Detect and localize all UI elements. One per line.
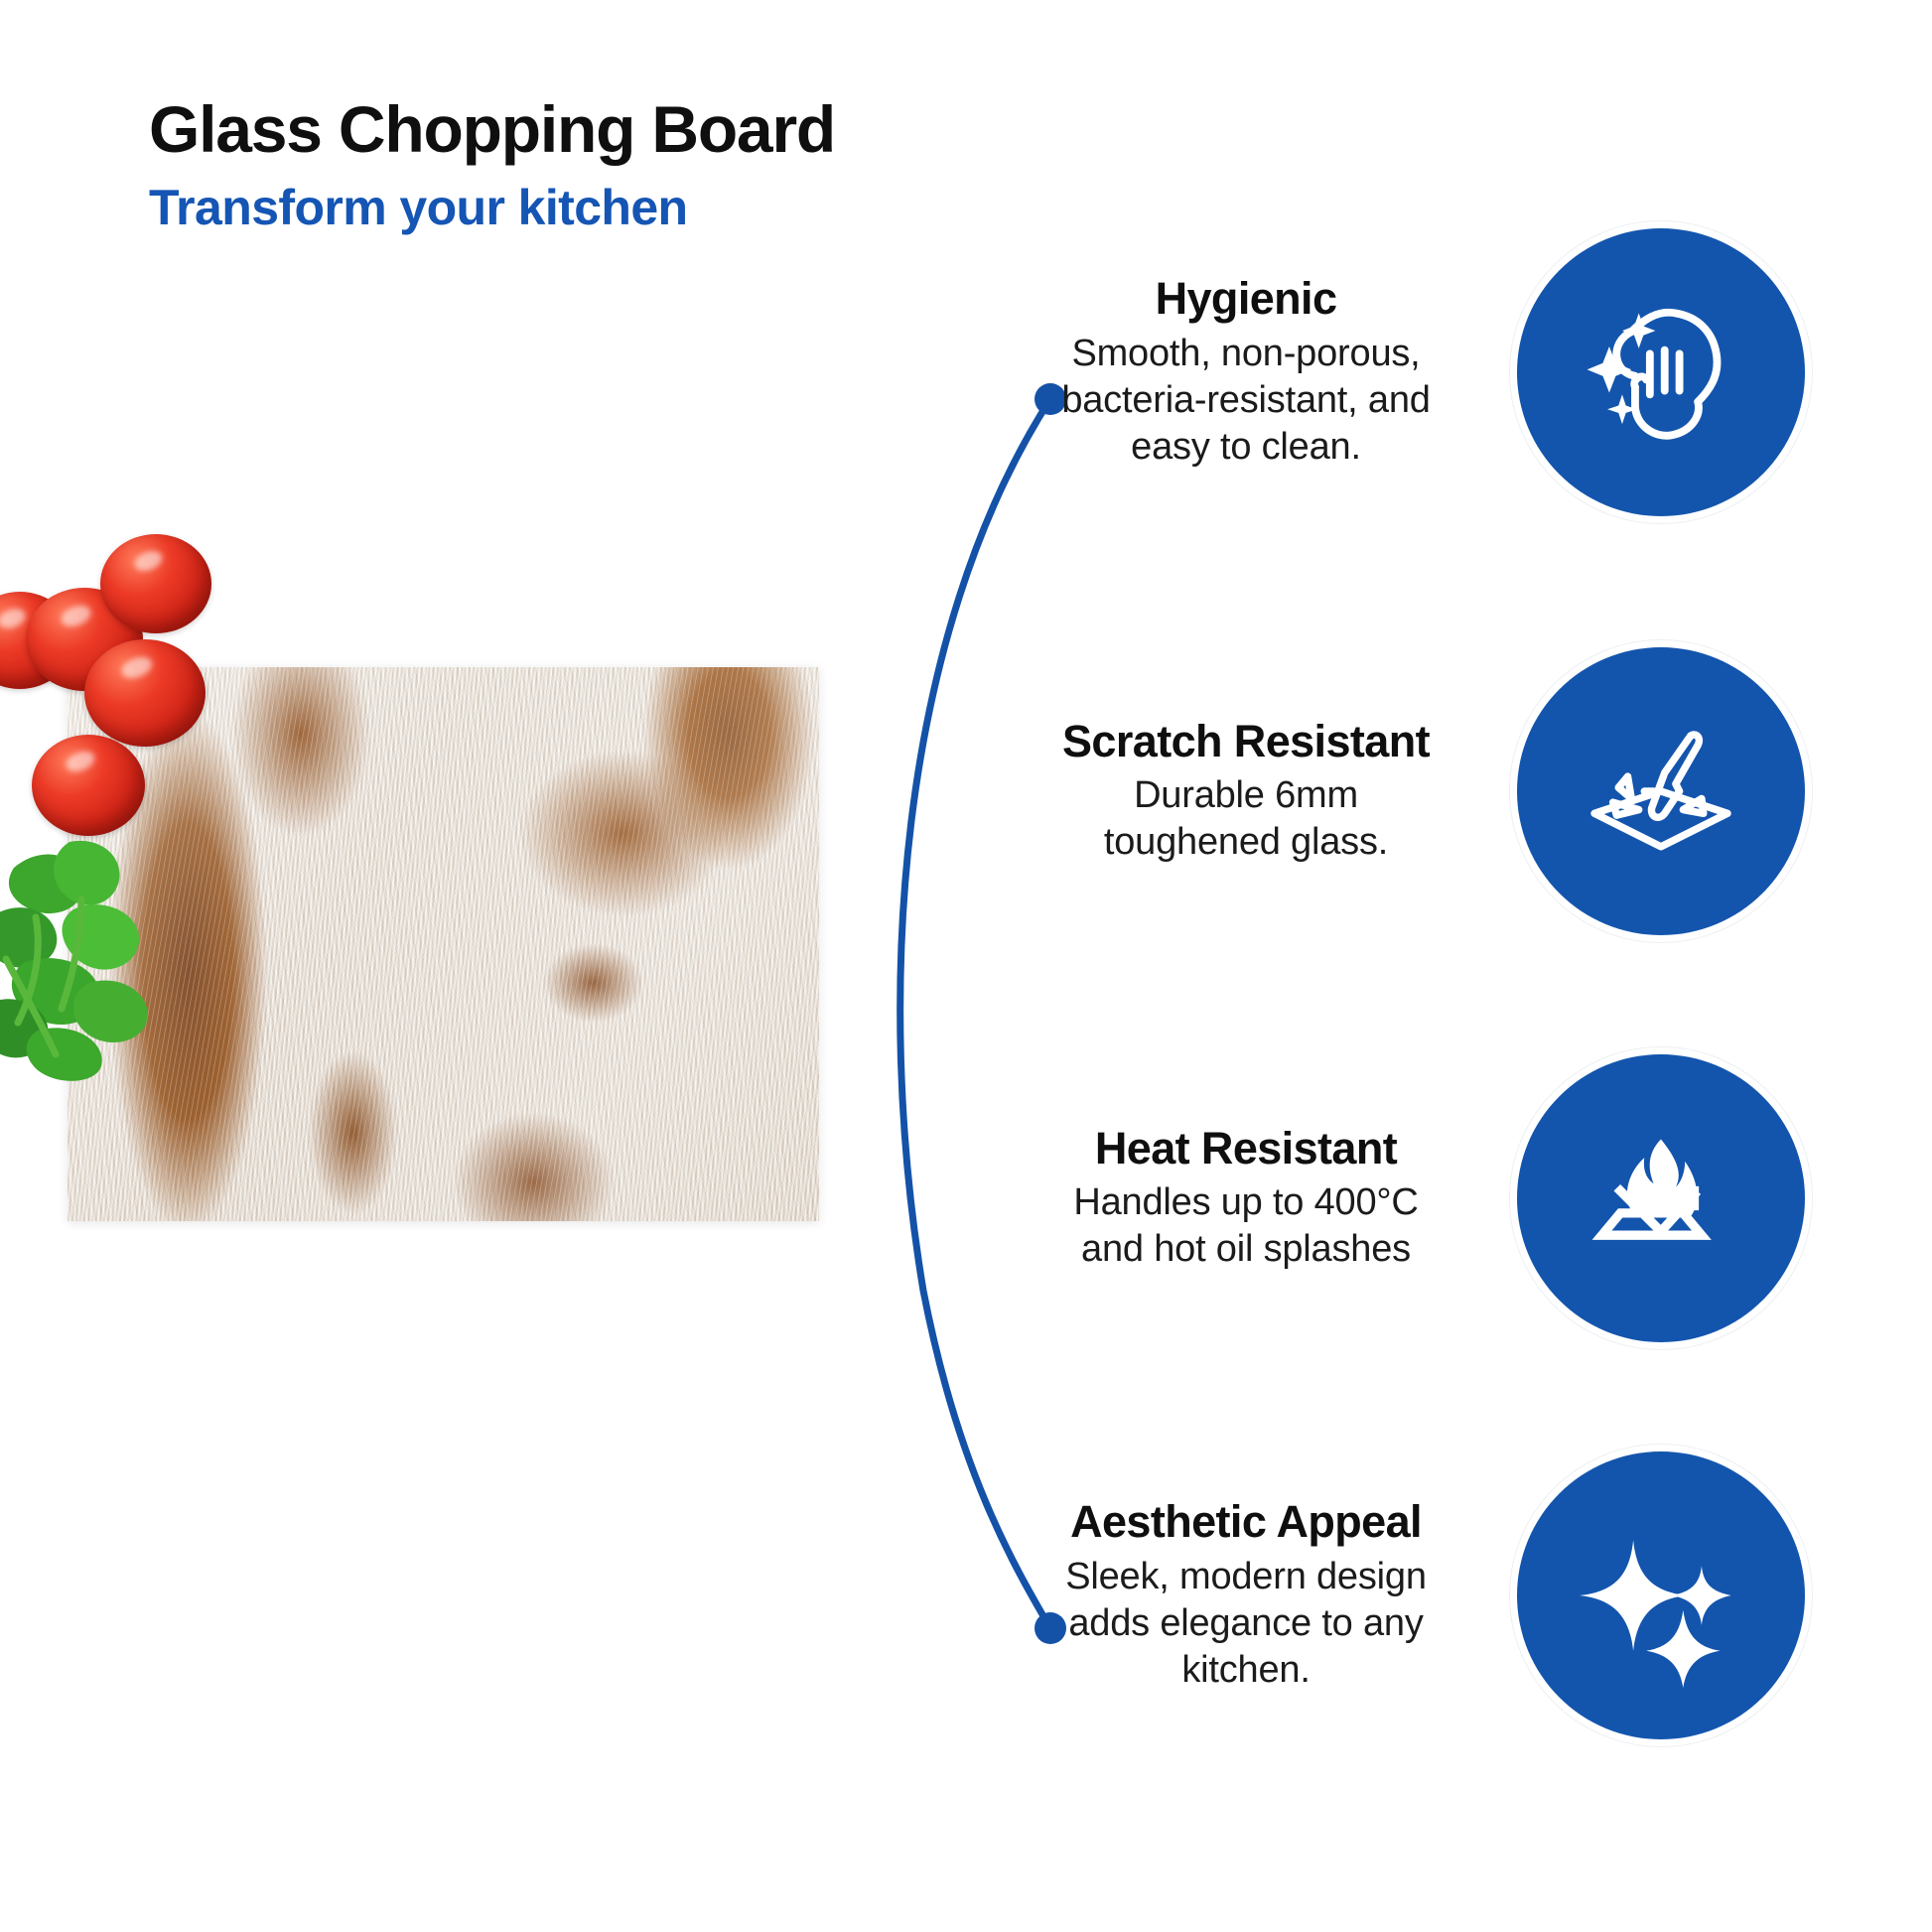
feature-description: Sleek, modern design adds elegance to an… [1013, 1554, 1479, 1694]
feature-icon-badge [1517, 1054, 1805, 1342]
feature-hygienic: Hygienic Smooth, non-porous, bacteria-re… [1013, 228, 1805, 516]
feature-scratch-resistant: Scratch Resistant Durable 6mm toughened … [1013, 647, 1805, 935]
feature-description-line: adds elegance to any [1068, 1602, 1423, 1644]
page-subtitle: Transform your kitchen [149, 181, 835, 235]
feature-description-line: kitchen. [1181, 1649, 1310, 1691]
feature-description-line: Durable 6mm [1134, 774, 1358, 816]
sparkles-icon [1569, 1503, 1753, 1688]
feature-description-line: toughened glass. [1104, 821, 1388, 863]
feature-heat-resistant: Heat Resistant Handles up to 400°C and h… [1013, 1054, 1805, 1342]
feature-icon-badge [1517, 228, 1805, 516]
feature-description-line: and hot oil splashes [1081, 1228, 1411, 1270]
feature-description-line: Sleek, modern design [1065, 1556, 1427, 1597]
feature-text-block: Hygienic Smooth, non-porous, bacteria-re… [1013, 274, 1517, 471]
feature-title: Aesthetic Appeal [1013, 1497, 1479, 1547]
feature-text-block: Aesthetic Appeal Sleek, modern design ad… [1013, 1497, 1517, 1694]
infographic-canvas: Glass Chopping Board Transform your kitc… [0, 0, 1932, 1932]
page-title: Glass Chopping Board [149, 95, 835, 165]
feature-description-line: easy to clean. [1131, 426, 1361, 468]
cherry-tomato [32, 735, 145, 836]
cherry-tomato [84, 639, 206, 747]
feature-text-block: Scratch Resistant Durable 6mm toughened … [1013, 717, 1517, 867]
feature-icon-badge [1517, 1451, 1805, 1739]
knife-scratch-surface-icon [1569, 699, 1753, 884]
header: Glass Chopping Board Transform your kitc… [149, 95, 835, 235]
flame-heat-shield-icon [1569, 1106, 1753, 1291]
feature-text-block: Heat Resistant Handles up to 400°C and h… [1013, 1124, 1517, 1274]
feature-description: Smooth, non-porous, bacteria-resistant, … [1013, 331, 1479, 471]
connector-path [900, 399, 1050, 1628]
cherry-tomato [100, 534, 211, 633]
feature-description: Handles up to 400°C and hot oil splashes [1013, 1179, 1479, 1273]
feature-icon-badge [1517, 647, 1805, 935]
feature-description: Durable 6mm toughened glass. [1013, 772, 1479, 866]
parsley-garnish [0, 834, 197, 1082]
feature-aesthetic-appeal: Aesthetic Appeal Sleek, modern design ad… [1013, 1451, 1805, 1739]
feature-title: Scratch Resistant [1013, 717, 1479, 766]
feature-description-line: Handles up to 400°C [1073, 1181, 1418, 1223]
feature-title: Hygienic [1013, 274, 1479, 324]
hand-wipe-sparkle-icon [1569, 280, 1753, 465]
product-image-stage [0, 596, 894, 1291]
feature-description-line: Smooth, non-porous, [1071, 333, 1420, 374]
feature-description-line: bacteria-resistant, and [1061, 379, 1430, 421]
feature-title: Heat Resistant [1013, 1124, 1479, 1173]
parsley-icon [0, 834, 197, 1082]
